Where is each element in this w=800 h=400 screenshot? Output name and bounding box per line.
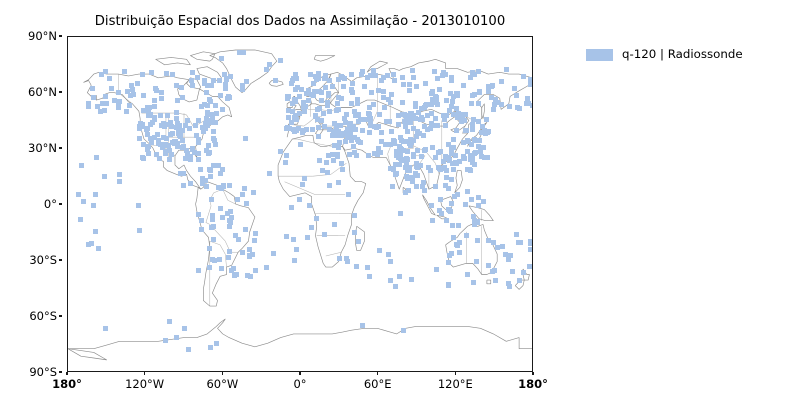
y-tick-mark — [59, 315, 62, 316]
y-tick-mark — [59, 147, 62, 148]
x-tick-mark — [455, 372, 456, 375]
x-tick-label: 180° — [27, 378, 107, 390]
y-tick-label: 0° — [0, 198, 57, 210]
map-plot-area[interactable] — [67, 36, 533, 372]
x-tick-label: 120°W — [105, 378, 185, 390]
y-tick-mark — [59, 91, 62, 92]
y-tick-label: 60°N — [0, 86, 57, 98]
x-tick-mark — [144, 372, 145, 375]
page-title: Distribuição Espacial dos Dados na Assim… — [67, 14, 533, 30]
legend-label-q120: q-120 | Radiossonde — [622, 48, 743, 61]
y-tick-mark — [59, 203, 62, 204]
x-tick-mark — [377, 372, 378, 375]
x-tick-label: 0° — [260, 378, 340, 390]
x-tick-mark — [532, 372, 533, 375]
y-tick-mark — [59, 259, 62, 260]
x-tick-label: 60°W — [182, 378, 262, 390]
figure-canvas: Distribuição Espacial dos Dados na Assim… — [0, 0, 800, 400]
y-tick-mark — [59, 371, 62, 372]
y-tick-label: 30°N — [0, 142, 57, 154]
x-tick-mark — [66, 372, 67, 375]
y-tick-mark — [59, 35, 62, 36]
legend-swatch-q120 — [586, 49, 613, 61]
x-tick-mark — [222, 372, 223, 375]
x-tick-mark — [299, 372, 300, 375]
y-tick-label: 30°S — [0, 254, 57, 266]
y-tick-label: 90°N — [0, 30, 57, 42]
y-axis-latitude: 90°N60°N30°N0°30°S60°S90°S — [0, 36, 62, 372]
x-tick-label: 60°E — [338, 378, 418, 390]
x-tick-label: 180° — [493, 378, 573, 390]
world-map-coastlines — [68, 37, 532, 371]
x-axis-longitude: 180°120°W60°W0°60°E120°E180° — [67, 372, 533, 396]
legend[interactable]: q-120 | Radiossonde — [586, 48, 743, 61]
y-tick-label: 90°S — [0, 366, 57, 378]
y-tick-label: 60°S — [0, 310, 57, 322]
x-tick-label: 120°E — [415, 378, 495, 390]
